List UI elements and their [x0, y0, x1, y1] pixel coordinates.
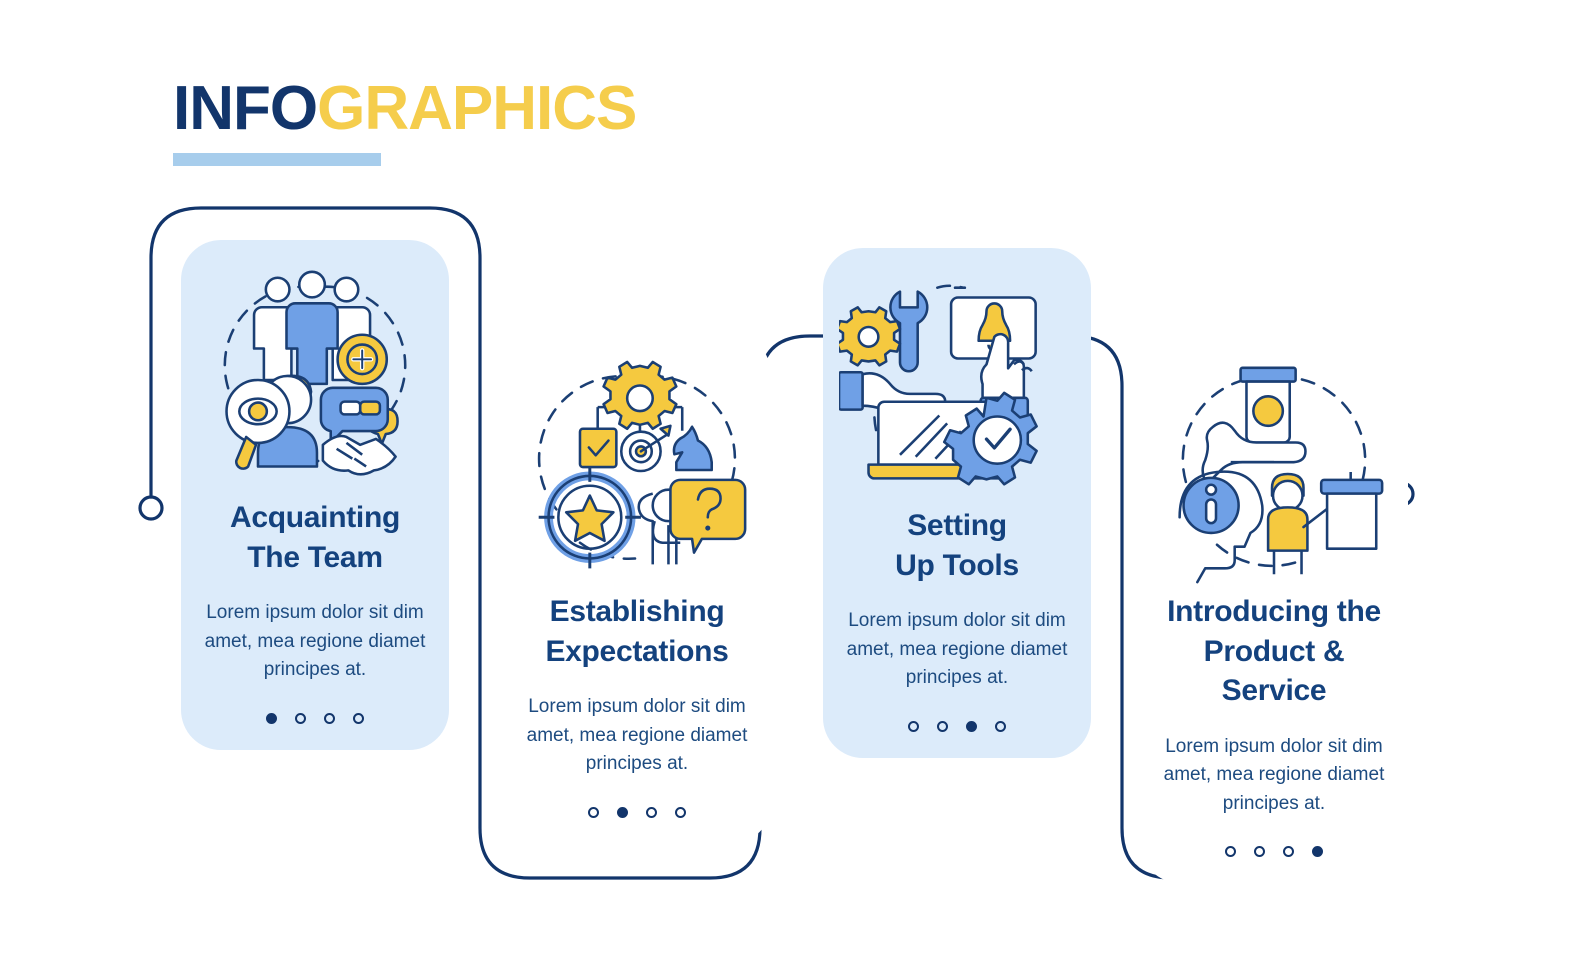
- dot-indicator[interactable]: [675, 807, 686, 818]
- dot-indicator[interactable]: [1254, 846, 1265, 857]
- dot-indicator[interactable]: [617, 807, 628, 818]
- setting-up-tools-icon: [839, 270, 1075, 502]
- step-card-3-title-line1: Setting: [841, 506, 1073, 546]
- step-card-3-dots[interactable]: [837, 721, 1077, 758]
- step-card-3-title: Setting Up Tools: [837, 506, 1077, 585]
- dot-indicator[interactable]: [995, 721, 1006, 732]
- step-card-1-title: Acquainting The Team: [195, 498, 435, 577]
- step-card-4-body: Lorem ipsum dolor sit dim amet, mea regi…: [1154, 733, 1394, 819]
- page-title-block: INFOGRAPHICS: [173, 78, 636, 166]
- dot-indicator[interactable]: [908, 721, 919, 732]
- product-introduction-icon: [1156, 356, 1392, 588]
- dot-indicator[interactable]: [966, 721, 977, 732]
- dot-indicator[interactable]: [295, 713, 306, 724]
- step-card-2-title-line1: Establishing: [521, 592, 753, 632]
- dot-indicator[interactable]: [1283, 846, 1294, 857]
- step-card-1-title-line1: Acquainting: [199, 498, 431, 538]
- infographic-canvas: INFOGRAPHICS: [0, 0, 1573, 980]
- step-card-4-title-line1: Introducing the: [1158, 592, 1390, 632]
- team-introduction-icon: [197, 262, 433, 494]
- step-card-2-dots[interactable]: [517, 807, 757, 844]
- expectations-icon: [519, 356, 755, 588]
- step-card-2-body: Lorem ipsum dolor sit dim amet, mea regi…: [517, 693, 757, 779]
- step-card-2-title: Establishing Expectations: [517, 592, 757, 671]
- page-title-segment-accent: GRAPHICS: [317, 74, 636, 143]
- step-card-4[interactable]: Introducing the Product & Service Lorem …: [1140, 334, 1408, 883]
- dot-indicator[interactable]: [588, 807, 599, 818]
- step-card-2-title-line2: Expectations: [521, 632, 753, 672]
- path-start-node: [140, 497, 162, 519]
- title-underline-bar: [173, 153, 381, 166]
- step-card-1-body: Lorem ipsum dolor sit dim amet, mea regi…: [195, 599, 435, 685]
- step-card-1-dots[interactable]: [195, 713, 435, 750]
- dot-indicator[interactable]: [1312, 846, 1323, 857]
- step-card-3[interactable]: Setting Up Tools Lorem ipsum dolor sit d…: [823, 248, 1091, 758]
- dot-indicator[interactable]: [646, 807, 657, 818]
- step-card-3-title-line2: Up Tools: [841, 546, 1073, 586]
- dot-indicator[interactable]: [1225, 846, 1236, 857]
- step-card-1-title-line2: The Team: [199, 538, 431, 578]
- step-card-4-dots[interactable]: [1154, 846, 1394, 883]
- dot-indicator[interactable]: [353, 713, 364, 724]
- step-card-1[interactable]: Acquainting The Team Lorem ipsum dolor s…: [181, 240, 449, 750]
- dot-indicator[interactable]: [266, 713, 277, 724]
- page-title: INFOGRAPHICS: [173, 78, 636, 140]
- step-card-2[interactable]: Establishing Expectations Lorem ipsum do…: [503, 334, 771, 844]
- step-card-3-body: Lorem ipsum dolor sit dim amet, mea regi…: [837, 607, 1077, 693]
- page-title-segment-dark: INFO: [173, 74, 317, 143]
- step-card-4-title-line2: Product & Service: [1158, 632, 1390, 711]
- step-card-4-title: Introducing the Product & Service: [1154, 592, 1394, 711]
- dot-indicator[interactable]: [324, 713, 335, 724]
- dot-indicator[interactable]: [937, 721, 948, 732]
